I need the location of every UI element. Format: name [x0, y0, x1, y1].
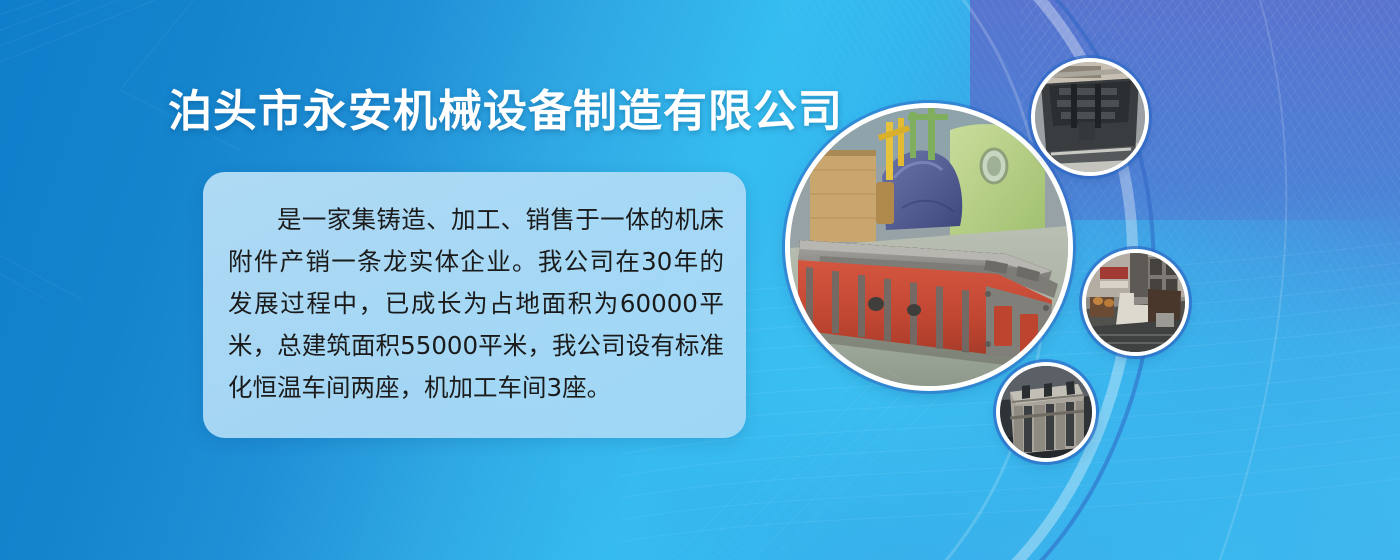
- company-intro-text: 是一家集铸造、加工、销售于一体的机床附件产销一条龙实体企业。我公司在30年的发展…: [228, 199, 724, 409]
- photo-cast-iron-box[interactable]: [1000, 366, 1092, 458]
- photo-cast-iron-bed[interactable]: [1035, 62, 1145, 172]
- page-title: 泊头市永安机械设备制造有限公司: [168, 75, 843, 139]
- photo-cast-iron-bed-illustration: [1035, 62, 1145, 172]
- company-intro-card: 是一家集铸造、加工、销售于一体的机床附件产销一条龙实体企业。我公司在30年的发展…: [203, 172, 746, 438]
- photo-foundry-workshop[interactable]: [1086, 253, 1185, 352]
- company-banner: 泊头市永安机械设备制造有限公司 是一家集铸造、加工、销售于一体的机床附件产销一条…: [0, 0, 1400, 560]
- photo-foundry-workshop-illustration: [1086, 253, 1185, 352]
- photo-main-machine-bed[interactable]: [790, 108, 1068, 386]
- photo-main-illustration: [790, 108, 1068, 386]
- photo-cast-iron-box-illustration: [1000, 366, 1092, 458]
